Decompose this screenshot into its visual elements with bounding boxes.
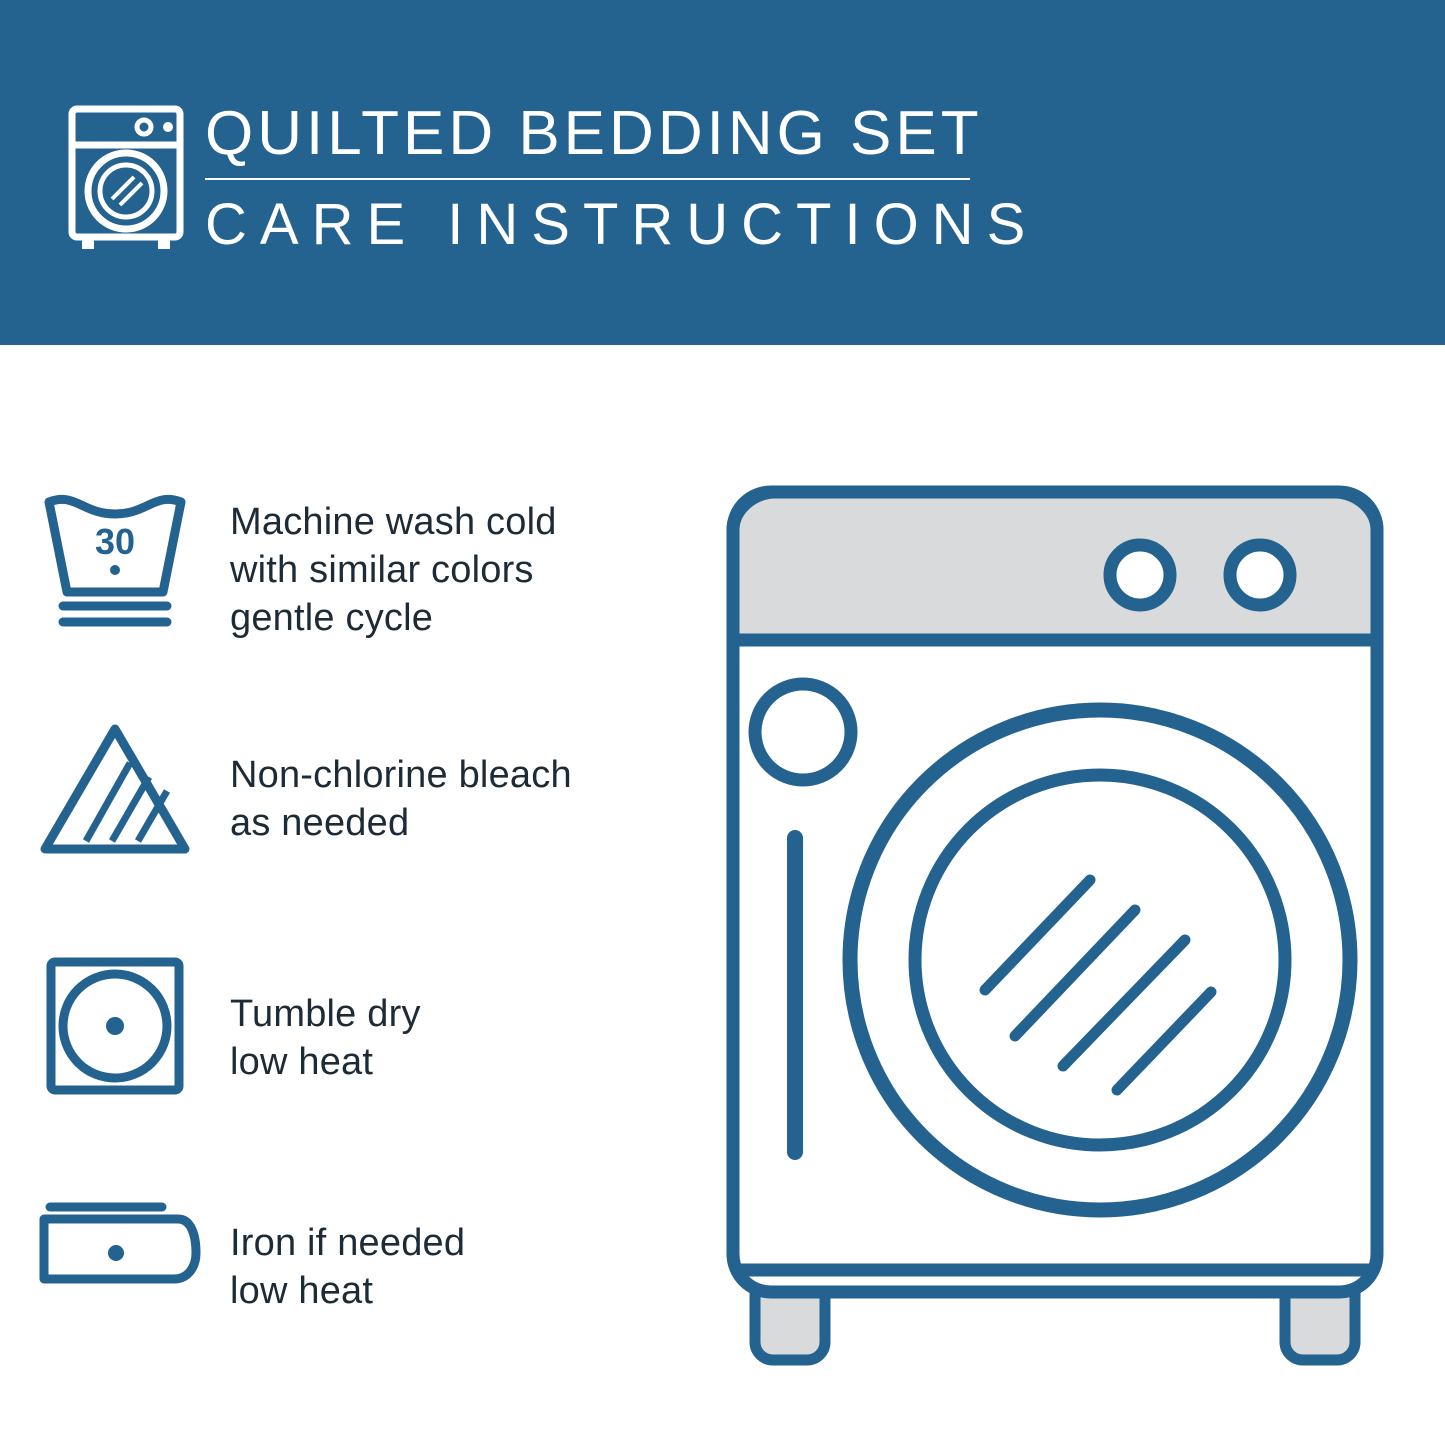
washing-machine-icon [66,103,186,253]
care-row-bleach: Non-chlorine bleach as needed [0,703,700,936]
care-line: as needed [230,799,572,847]
care-label-machine-wash: Machine wash cold with similar colors ge… [230,470,557,642]
care-line: low heat [230,1038,421,1086]
machine-wash-tub-icon: 30 [0,470,230,640]
care-instructions-page: QUILTED BEDDING SET CARE INSTRUCTIONS 30… [0,0,1445,1445]
title-divider [205,178,970,180]
care-line: Iron if needed [230,1219,465,1267]
care-row-iron: Iron if needed low heat [0,1169,700,1402]
header-banner: QUILTED BEDDING SET CARE INSTRUCTIONS [0,0,1445,345]
header-text-block: QUILTED BEDDING SET CARE INSTRUCTIONS [205,96,1005,260]
care-label-bleach: Non-chlorine bleach as needed [230,703,572,847]
care-label-iron: Iron if needed low heat [230,1169,465,1315]
care-instruction-list: 30 Machine wash cold with similar colors… [0,470,700,1402]
iron-low-heat-icon [0,1169,230,1309]
page-title: QUILTED BEDDING SET [205,96,1005,172]
non-chlorine-bleach-triangle-icon [0,703,230,863]
care-line: Machine wash cold [230,498,557,546]
care-label-tumble-dry: Tumble dry low heat [230,936,421,1086]
tumble-dry-low-icon [0,936,230,1106]
care-line: with similar colors [230,546,557,594]
wash-temp-value: 30 [95,521,135,562]
knob-1 [1110,545,1170,605]
knob-2 [1230,545,1290,605]
care-row-tumble-dry: Tumble dry low heat [0,936,700,1169]
indicator-light [755,684,851,780]
care-line: low heat [230,1267,465,1315]
care-row-machine-wash: 30 Machine wash cold with similar colors… [0,470,700,703]
front-load-washing-machine-illustration [715,470,1395,1370]
care-line: gentle cycle [230,594,557,642]
page-subtitle: CARE INSTRUCTIONS [205,190,1005,260]
care-line: Non-chlorine bleach [230,751,572,799]
care-line: Tumble dry [230,990,421,1038]
